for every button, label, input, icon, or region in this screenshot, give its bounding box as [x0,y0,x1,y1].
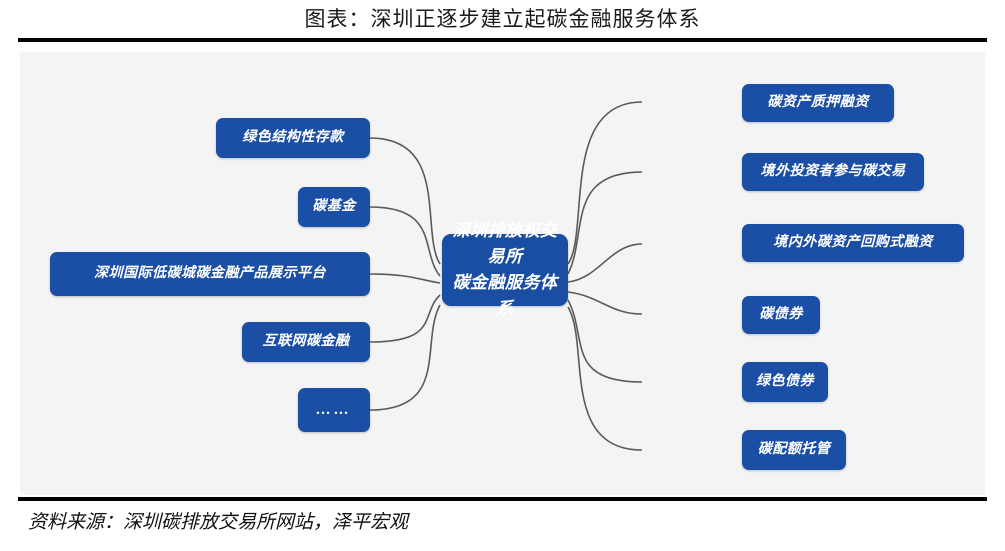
edge-right-2 [568,172,642,274]
node-label: …… [316,401,352,419]
node-low-carbon-city-platform[interactable]: 深圳国际低碳城碳金融产品展示平台 [50,252,370,296]
node-label: 碳资产质押融资 [767,94,869,112]
node-carbon-asset-pledge-financing[interactable]: 碳资产质押融资 [742,84,894,122]
node-label: 绿色结构性存款 [242,129,344,147]
node-ellipsis[interactable]: …… [298,388,370,432]
edge-left-4 [370,295,440,342]
node-carbon-quota-custody[interactable]: 碳配额托管 [742,430,846,470]
diagram-panel: 深圳排放权交易所 碳金融服务体系 绿色结构性存款 碳基金 深圳国际低碳城碳金融产… [20,52,985,495]
title-divider-rule [18,38,987,42]
node-label: 碳基金 [312,198,356,216]
node-label: 碳债券 [759,306,803,324]
node-green-structured-deposit[interactable]: 绿色结构性存款 [216,118,370,158]
edge-right-6 [568,307,642,450]
node-carbon-bond[interactable]: 碳债券 [742,296,820,334]
edge-left-1 [370,138,440,264]
page-title: 图表：深圳正逐步建立起碳金融服务体系 [0,4,1005,34]
edge-right-3 [568,244,642,282]
node-carbon-fund[interactable]: 碳基金 [298,187,370,227]
node-label: 绿色债券 [756,373,814,391]
edge-left-3 [370,274,440,283]
edge-left-5 [370,305,440,410]
node-label: 深圳国际低碳城碳金融产品展示平台 [94,265,326,283]
node-label: 碳配额托管 [758,441,831,459]
center-node[interactable]: 深圳排放权交易所 碳金融服务体系 [442,234,568,306]
source-divider-rule [18,497,987,501]
edge-left-2 [370,207,440,276]
node-label: 境外投资者参与碳交易 [761,163,906,181]
center-node-line2: 碳金融服务体系 [450,270,560,322]
node-green-bond[interactable]: 绿色债券 [742,362,828,402]
source-note: 资料来源：深圳碳排放交易所网站，泽平宏观 [28,509,408,537]
node-label: 互联网碳金融 [263,333,350,351]
node-label: 境内外碳资产回购式融资 [773,234,933,252]
node-cross-border-carbon-repo-financing[interactable]: 境内外碳资产回购式融资 [742,224,964,262]
edge-right-4 [568,292,642,314]
edge-right-1 [568,102,642,264]
node-foreign-investor-carbon-trading[interactable]: 境外投资者参与碳交易 [742,153,924,191]
node-internet-carbon-finance[interactable]: 互联网碳金融 [242,322,370,362]
center-node-line1: 深圳排放权交易所 [450,218,560,270]
